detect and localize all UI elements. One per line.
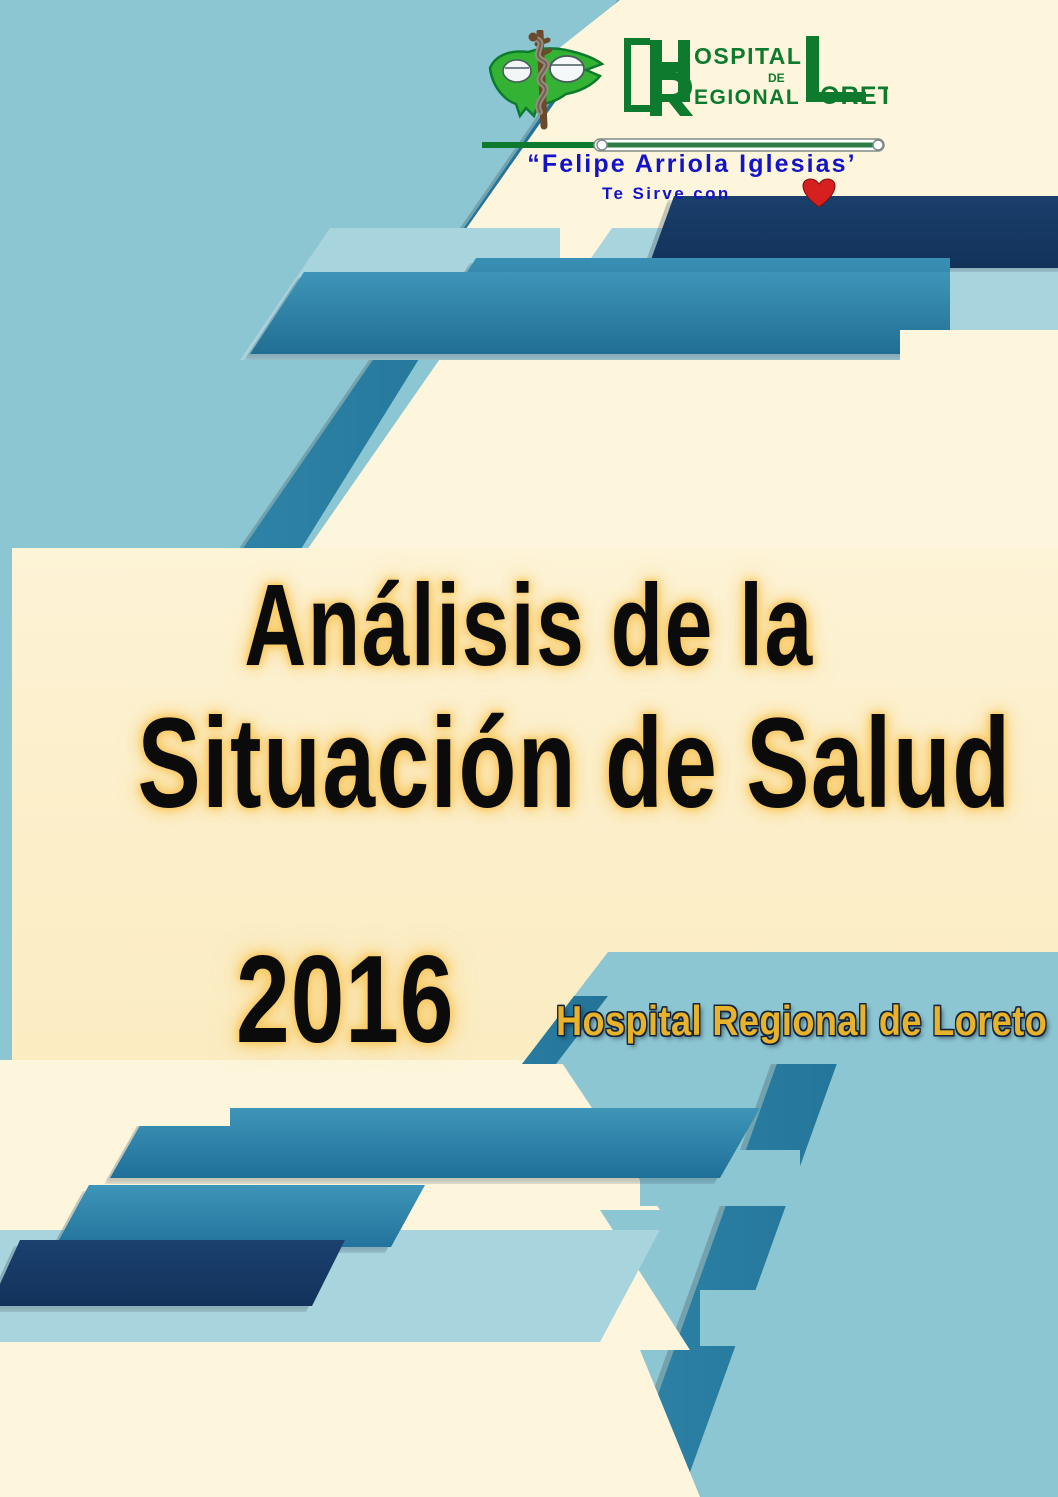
report-year: 2016 [236, 938, 454, 1062]
hospital-tagline: Te Sirve con [602, 184, 731, 204]
cream-block-right [900, 330, 1058, 390]
hospital-regional-loreto-wordmark: OSPITAL DE EGIONAL ORETO [620, 34, 888, 116]
hospital-logo: OSPITAL DE EGIONAL ORETO “Felipe Arriola… [482, 26, 902, 188]
loreto-map-caduceus-emblem [482, 30, 612, 130]
report-cover-page: Análisis de la Situación de Salud 2016 H… [0, 0, 1058, 1497]
svg-text:OSPITAL: OSPITAL [694, 43, 802, 69]
svg-text:DE: DE [768, 71, 785, 85]
page-title-line-1: Análisis de la [138, 570, 921, 681]
hospital-name: “Felipe Arriola Iglesias’ [482, 150, 902, 179]
report-subtitle: Hospital Regional de Loreto [556, 1000, 1047, 1042]
navy-bar-top [648, 196, 1058, 268]
page-title-line-2: Situación de Salud [138, 703, 921, 826]
svg-text:EGIONAL: EGIONAL [694, 86, 800, 109]
navy-bar-bottom [0, 1240, 345, 1306]
heart-icon [802, 178, 836, 208]
blue-bar-bottom-2 [55, 1185, 425, 1247]
title-block: Análisis de la Situación de Salud [0, 570, 1058, 826]
svg-text:ORETO: ORETO [820, 82, 888, 110]
blue-bar-top-2 [250, 272, 950, 354]
staircase-notch-4 [700, 1290, 860, 1346]
cream-block-bottom-left [0, 1060, 230, 1126]
